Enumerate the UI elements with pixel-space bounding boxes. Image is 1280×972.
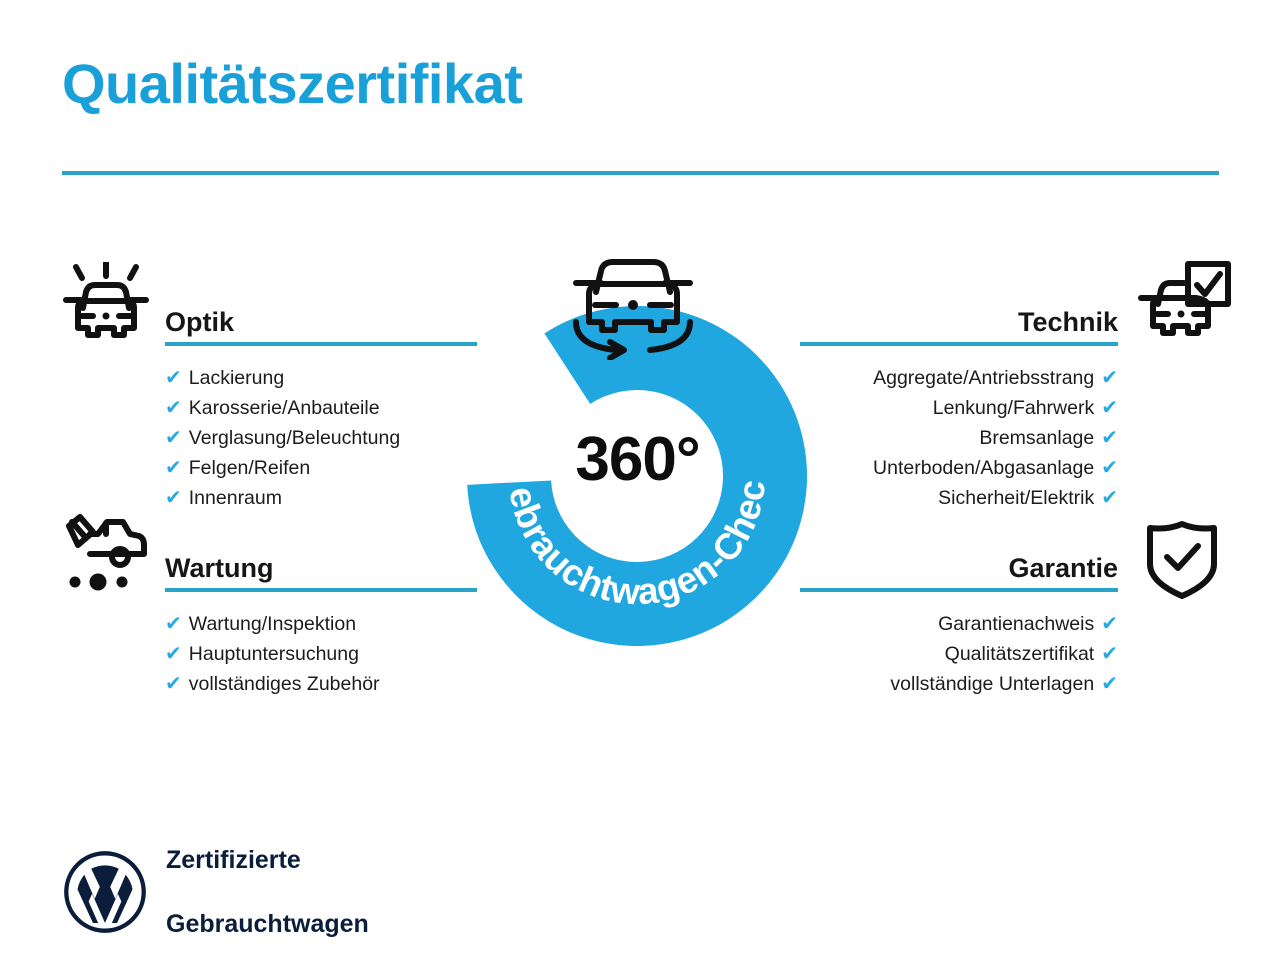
section-underline <box>800 588 1118 592</box>
list-item-label: Qualitätszertifikat <box>945 643 1095 665</box>
list-item: ✔vollständiges Zubehör <box>165 669 477 699</box>
section-underline <box>800 342 1118 346</box>
check-icon: ✔ <box>1101 609 1118 639</box>
section-technik: Technik Aggregate/Antriebsstrang✔ Lenkun… <box>800 296 1118 513</box>
list-item-label: Garantienachweis <box>938 613 1094 635</box>
section-title-technik: Technik <box>1018 309 1118 336</box>
check-icon: ✔ <box>165 363 182 393</box>
list-item: vollständige Unterlagen✔ <box>800 669 1118 699</box>
list-item: Aggregate/Antriebsstrang✔ <box>800 363 1118 393</box>
section-garantie: Garantie Garantienachweis✔ Qualitätszert… <box>800 542 1118 699</box>
list-item-label: Verglasung/Beleuchtung <box>189 427 400 449</box>
check-icon: ✔ <box>1101 393 1118 423</box>
check-icon: ✔ <box>165 453 182 483</box>
list-item: ✔Felgen/Reifen <box>165 453 477 483</box>
section-title-wartung: Wartung <box>165 555 273 582</box>
list-item: Bremsanlage✔ <box>800 423 1118 453</box>
list-item: Unterboden/Abgasanlage✔ <box>800 453 1118 483</box>
check-icon: ✔ <box>165 639 182 669</box>
gebrauchtwagen-check-badge: Gebrauchtwagen-Check 360° <box>455 248 820 648</box>
section-wartung: Wartung ✔Wartung/Inspektion ✔Hauptunters… <box>165 542 477 699</box>
check-icon: ✔ <box>1101 639 1118 669</box>
section-underline <box>165 588 477 592</box>
footer-line-2: Gebrauchtwagen <box>166 908 369 940</box>
footer-brand-text: Zertifizierte Gebrauchtwagen <box>166 812 369 972</box>
list-item: ✔Karosserie/Anbauteile <box>165 393 477 423</box>
list-item: ✔Wartung/Inspektion <box>165 609 477 639</box>
list-item: Sicherheit/Elektrik✔ <box>800 483 1118 513</box>
check-icon: ✔ <box>165 393 182 423</box>
list-item-label: Bremsanlage <box>979 427 1094 449</box>
section-header: Garantie <box>800 542 1118 592</box>
footer-brand-lockup: Zertifizierte Gebrauchtwagen <box>62 812 369 972</box>
car-checkbox-icon <box>1136 260 1228 344</box>
list-item-label: Aggregate/Antriebsstrang <box>873 367 1094 389</box>
volkswagen-logo <box>62 849 148 935</box>
check-icon: ✔ <box>1101 669 1118 699</box>
header-divider <box>62 171 1219 175</box>
list-item: ✔Lackierung <box>165 363 477 393</box>
car-service-pen-icon <box>60 512 152 596</box>
check-icon: ✔ <box>165 609 182 639</box>
check-icon: ✔ <box>165 669 182 699</box>
section-title-optik: Optik <box>165 309 234 336</box>
shield-check-icon <box>1140 518 1232 602</box>
list-item-label: Felgen/Reifen <box>189 457 310 479</box>
list-item-label: Lenkung/Fahrwerk <box>933 397 1095 419</box>
list-item: ✔Verglasung/Beleuchtung <box>165 423 477 453</box>
section-header: Wartung <box>165 542 477 592</box>
checklist-wartung: ✔Wartung/Inspektion ✔Hauptuntersuchung ✔… <box>165 609 477 699</box>
checklist-garantie: Garantienachweis✔ Qualitätszertifikat✔ v… <box>800 609 1118 699</box>
section-title-garantie: Garantie <box>1008 555 1118 582</box>
check-icon: ✔ <box>165 483 182 513</box>
list-item-label: Sicherheit/Elektrik <box>938 487 1094 509</box>
list-item: ✔Innenraum <box>165 483 477 513</box>
list-item: ✔Hauptuntersuchung <box>165 639 477 669</box>
car-shine-icon <box>60 262 152 346</box>
list-item: Qualitätszertifikat✔ <box>800 639 1118 669</box>
list-item-label: Wartung/Inspektion <box>189 613 356 635</box>
badge-center-value: 360° <box>455 429 820 491</box>
section-header: Optik <box>165 296 477 346</box>
list-item-label: Lackierung <box>189 367 284 389</box>
list-item-label: vollständige Unterlagen <box>890 673 1094 695</box>
check-icon: ✔ <box>1101 483 1118 513</box>
footer-line-1: Zertifizierte <box>166 844 369 876</box>
list-item-label: Unterboden/Abgasanlage <box>873 457 1094 479</box>
list-item-label: vollständiges Zubehör <box>189 673 380 695</box>
section-header: Technik <box>800 296 1118 346</box>
section-optik: Optik ✔Lackierung ✔Karosserie/Anbauteile… <box>165 296 477 513</box>
list-item: Lenkung/Fahrwerk✔ <box>800 393 1118 423</box>
check-icon: ✔ <box>1101 453 1118 483</box>
check-icon: ✔ <box>1101 423 1118 453</box>
page-title: Qualitätszertifikat <box>62 56 522 112</box>
list-item: Garantienachweis✔ <box>800 609 1118 639</box>
list-item-label: Innenraum <box>189 487 282 509</box>
list-item-label: Hauptuntersuchung <box>189 643 359 665</box>
check-icon: ✔ <box>1101 363 1118 393</box>
checklist-optik: ✔Lackierung ✔Karosserie/Anbauteile ✔Verg… <box>165 363 477 513</box>
list-item-label: Karosserie/Anbauteile <box>189 397 380 419</box>
section-underline <box>165 342 477 346</box>
checklist-technik: Aggregate/Antriebsstrang✔ Lenkung/Fahrwe… <box>800 363 1118 513</box>
check-icon: ✔ <box>165 423 182 453</box>
car-rotate-icon <box>558 248 708 360</box>
